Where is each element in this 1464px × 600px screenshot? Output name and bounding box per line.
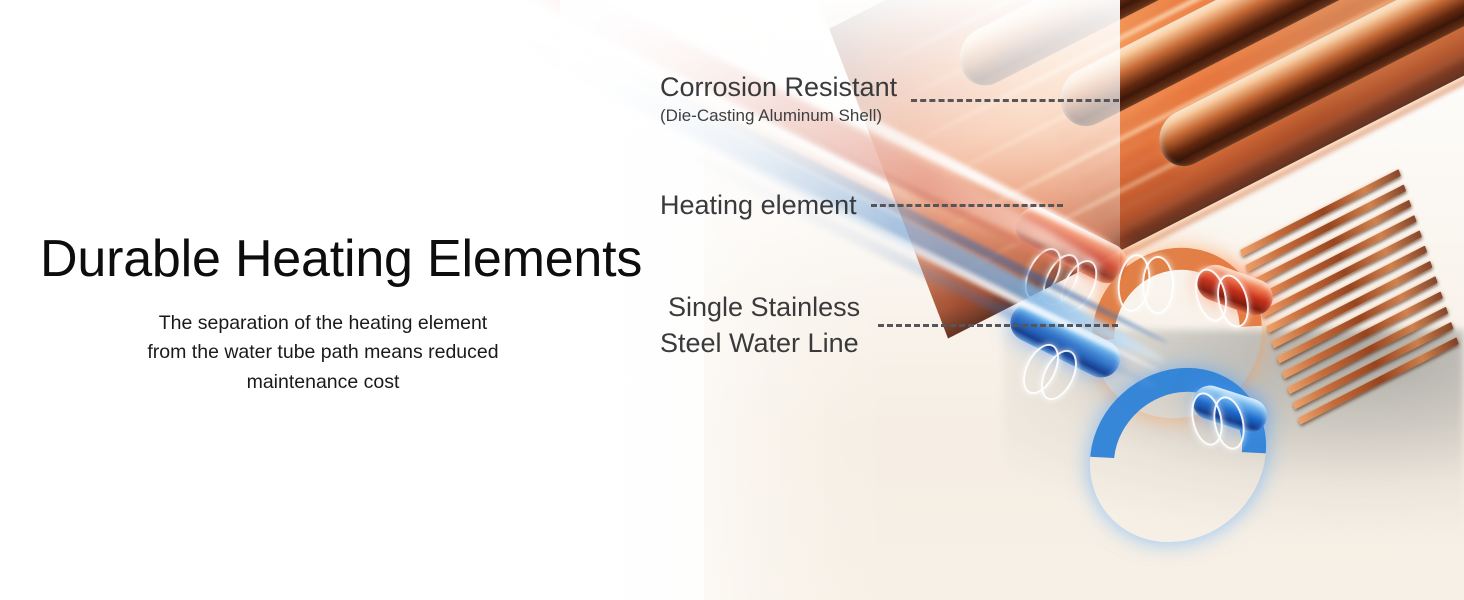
- callout-subtitle: (Die-Casting Aluminum Shell): [660, 105, 897, 127]
- subtitle-text: The separation of the heating element fr…: [40, 309, 606, 397]
- leader-line-dashed: [911, 99, 1119, 102]
- callout-corrosion-resistant: Corrosion Resistant (Die-Casting Aluminu…: [660, 72, 1119, 127]
- callout-text-group: Corrosion Resistant (Die-Casting Aluminu…: [660, 72, 897, 127]
- product-feature-banner: Durable Heating Elements The separation …: [0, 0, 1464, 600]
- callout-text-group: Heating element: [660, 190, 857, 220]
- leader-line-dashed: [878, 324, 1118, 327]
- callout-title: Corrosion Resistant: [660, 72, 897, 102]
- callout-title: Heating element: [660, 190, 857, 220]
- callout-heating-element: Heating element: [660, 190, 1063, 220]
- callout-text-group: Single Stainless Steel Water Line: [660, 292, 860, 358]
- callout-title-line-1: Single Stainless: [660, 292, 860, 322]
- subtitle-line-2: from the water tube path means reduced: [147, 341, 498, 363]
- callout-title-line-2: Steel Water Line: [660, 328, 860, 358]
- leader-line-dashed: [871, 204, 1063, 207]
- callout-stainless-steel-water-line: Single Stainless Steel Water Line: [660, 292, 1118, 358]
- page-title: Durable Heating Elements: [40, 232, 606, 287]
- subtitle-line-3: maintenance cost: [247, 371, 400, 393]
- subtitle-line-1: The separation of the heating element: [159, 312, 487, 334]
- headline-block: Durable Heating Elements The separation …: [40, 232, 606, 397]
